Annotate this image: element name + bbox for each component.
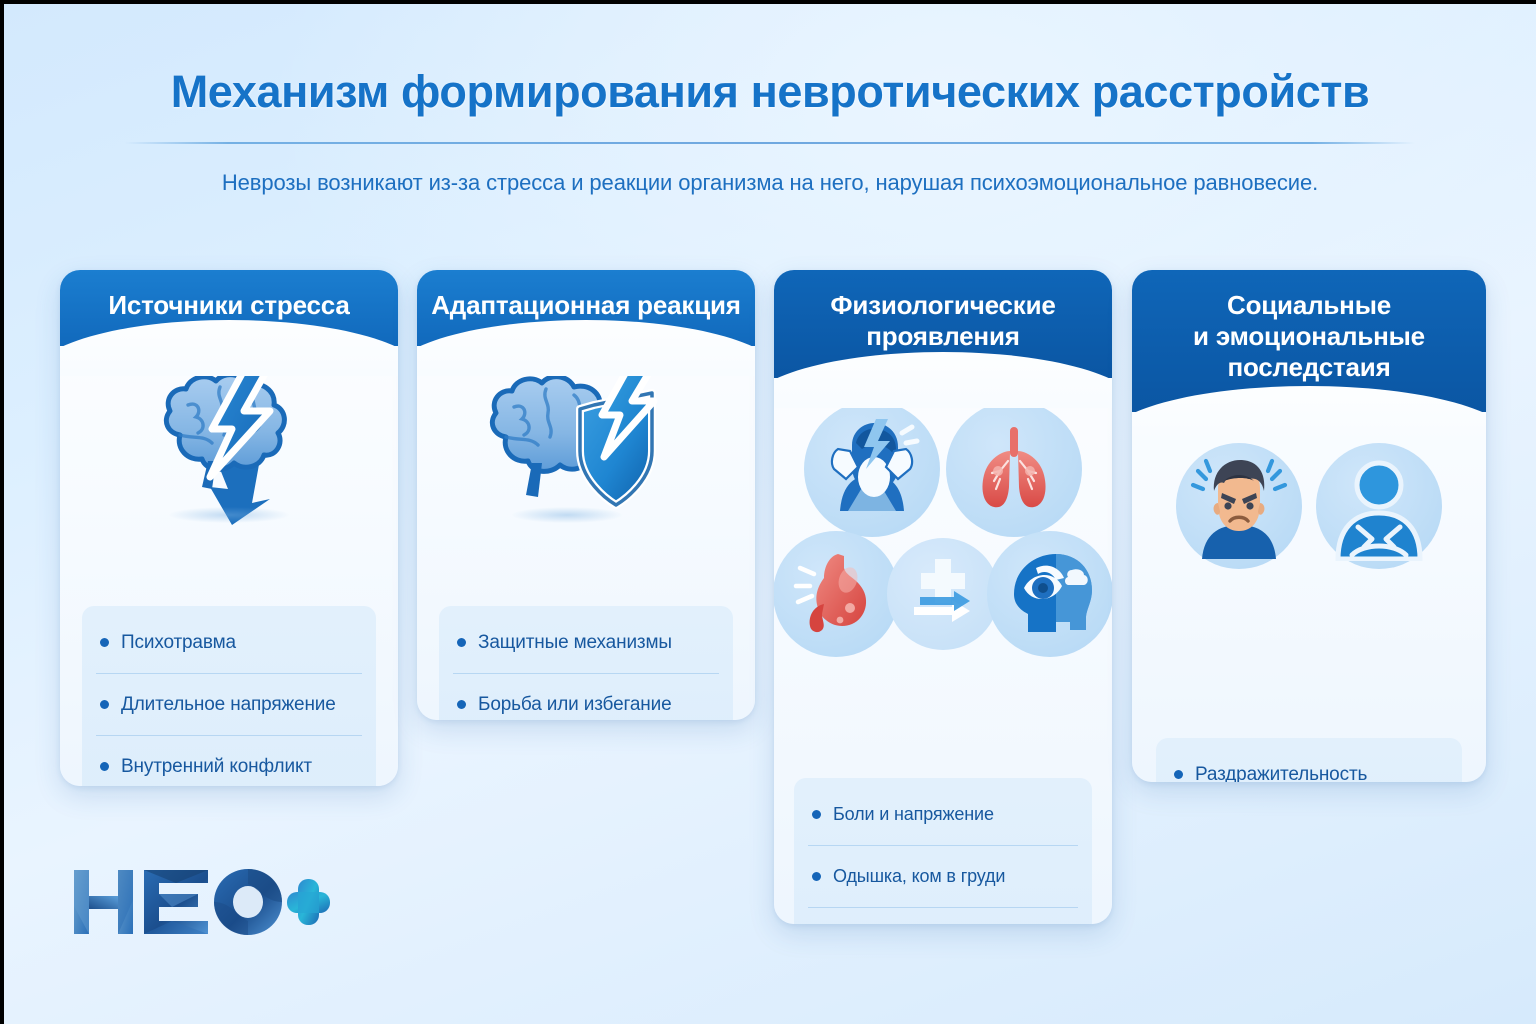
bullet-dot-icon <box>100 762 109 771</box>
list-item-label: Одышка, ком в груди <box>833 866 1005 887</box>
card-physiological-manifestations[interactable]: Физиологические проявления <box>774 270 1112 924</box>
list-item[interactable]: Раздражительность <box>1170 744 1448 782</box>
card-title-line-1: Социальные <box>1227 290 1391 320</box>
icon-zone-physiological-manifestations <box>774 384 1112 674</box>
card-header-adaptation-response: Адаптационная реакция <box>417 270 755 346</box>
bullet-list-physiological-manifestations: Боли и напряжение Одышка, ком в груди Пр… <box>794 778 1092 924</box>
card-header-sources-of-stress: Источники стресса <box>60 270 398 346</box>
head-eye-icon <box>987 531 1112 657</box>
logo-letter-o <box>214 869 282 935</box>
icon-shadow <box>512 507 622 523</box>
list-item[interactable]: Одышка, ком в груди <box>808 846 1078 908</box>
card-title-line-3: последстаия <box>1227 352 1390 382</box>
list-item[interactable]: Длительное напряжение <box>96 674 362 736</box>
logo-letter-e <box>144 870 208 934</box>
anxious-person-icon <box>1316 443 1442 569</box>
head-tension-icon <box>804 401 940 537</box>
list-item-label: Борьба или избегание <box>478 694 672 716</box>
icon-shadow <box>169 507 289 523</box>
physio-icon-row-2 <box>774 531 1112 657</box>
bullet-list-adaptation-response: Защитные механизмы Борьба или избегание … <box>439 606 733 720</box>
list-item[interactable]: Защитные механизмы <box>453 612 719 674</box>
bullet-dot-icon <box>812 872 821 881</box>
icon-zone-sources-of-stress <box>60 360 398 532</box>
list-item[interactable]: Борьба или избегание <box>453 674 719 720</box>
card-title-physiological-manifestations: Физиологические проявления <box>830 290 1055 352</box>
icon-zone-adaptation-response <box>417 360 755 532</box>
card-body-physiological-manifestations: Боли и напряжение Одышка, ком в груди Пр… <box>774 384 1112 674</box>
angry-face-icon <box>1176 443 1302 569</box>
brain-lightning-icon <box>124 363 334 529</box>
card-body-adaptation-response: Защитные механизмы Борьба или избегание … <box>417 360 755 532</box>
lungs-icon <box>946 401 1082 537</box>
neo-plus-logo[interactable] <box>72 866 330 938</box>
card-header-physiological-manifestations: Физиологические проявления <box>774 270 1112 378</box>
card-title-adaptation-response: Адаптационная реакция <box>431 290 741 321</box>
list-item[interactable]: Проблемы с пищеварением <box>808 908 1078 924</box>
brain-shield-lightning-icon <box>466 363 706 529</box>
poster-canvas: Механизм формирования невротических расс… <box>4 4 1536 1024</box>
physio-icon-row-1 <box>804 401 1082 537</box>
card-title-line-1: Физиологические <box>830 290 1055 320</box>
card-header-social-emotional-consequences: Социальные и эмоциональные последстаия <box>1132 270 1486 412</box>
plus-arrows-icon <box>887 538 999 650</box>
bullet-dot-icon <box>812 810 821 819</box>
poster-header: Механизм формирования невротических расс… <box>4 4 1536 196</box>
page-subtitle: Неврозы возникают из-за стресса и реакци… <box>4 170 1536 196</box>
bullet-dot-icon <box>100 700 109 709</box>
bullet-dot-icon <box>1174 770 1183 779</box>
page-title: Механизм формирования невротических расс… <box>4 66 1536 118</box>
title-divider <box>125 142 1415 144</box>
list-item-label: Психотравма <box>121 632 236 654</box>
list-item[interactable]: Боли и напряжение <box>808 784 1078 846</box>
bullet-list-sources-of-stress: Психотравма Длительное напряжение Внутре… <box>82 606 376 786</box>
card-title-sources-of-stress: Источники стресса <box>108 290 349 321</box>
card-title-social-emotional-consequences: Социальные и эмоциональные последстаия <box>1193 290 1425 384</box>
list-item[interactable]: Внутренний конфликт <box>96 736 362 786</box>
bullet-dot-icon <box>100 638 109 647</box>
list-item-label: Длительное напряжение <box>121 694 336 716</box>
social-icon-row <box>1176 443 1442 569</box>
card-body-sources-of-stress: Психотравма Длительное напряжение Внутре… <box>60 360 398 532</box>
logo-letter-n <box>74 870 133 934</box>
card-social-emotional-consequences[interactable]: Социальные и эмоциональные последстаия <box>1132 270 1486 782</box>
bullet-dot-icon <box>457 700 466 709</box>
card-title-line-2: и эмоциональные <box>1193 321 1425 351</box>
card-adaptation-response[interactable]: Адаптационная реакция <box>417 270 755 720</box>
stomach-icon <box>774 531 899 657</box>
card-title-line-2: проявления <box>866 321 1019 351</box>
card-body-social-emotional-consequences: Раздражительность Конфликты Одиночество <box>1132 428 1486 584</box>
icon-zone-social-emotional-consequences <box>1132 428 1486 584</box>
bullet-dot-icon <box>457 638 466 647</box>
list-item-label: Раздражительность <box>1195 764 1367 783</box>
logo-plus-icon <box>287 879 330 925</box>
list-item-label: Боли и напряжение <box>833 804 994 825</box>
card-sources-of-stress[interactable]: Источники стресса <box>60 270 398 786</box>
neo-plus-logo-mark <box>72 866 330 938</box>
list-item[interactable]: Психотравма <box>96 612 362 674</box>
bullet-list-social-emotional-consequences: Раздражительность Конфликты Одиночество <box>1156 738 1462 782</box>
list-item-label: Внутренний конфликт <box>121 756 312 778</box>
list-item-label: Защитные механизмы <box>478 632 672 654</box>
